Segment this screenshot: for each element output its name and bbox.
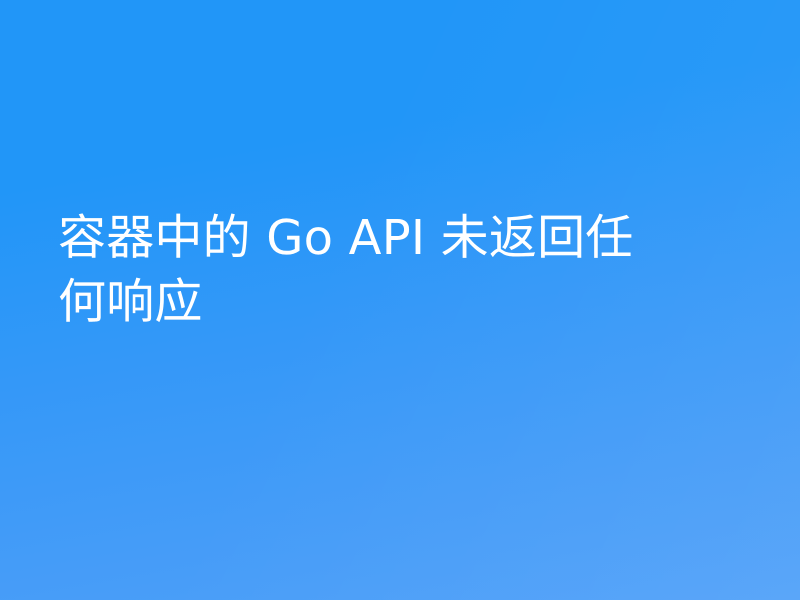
headline-container: 容器中的 Go API 未返回任何响应 [58, 206, 658, 334]
page-title: 容器中的 Go API 未返回任何响应 [58, 206, 658, 334]
title-card: 容器中的 Go API 未返回任何响应 [0, 0, 800, 600]
